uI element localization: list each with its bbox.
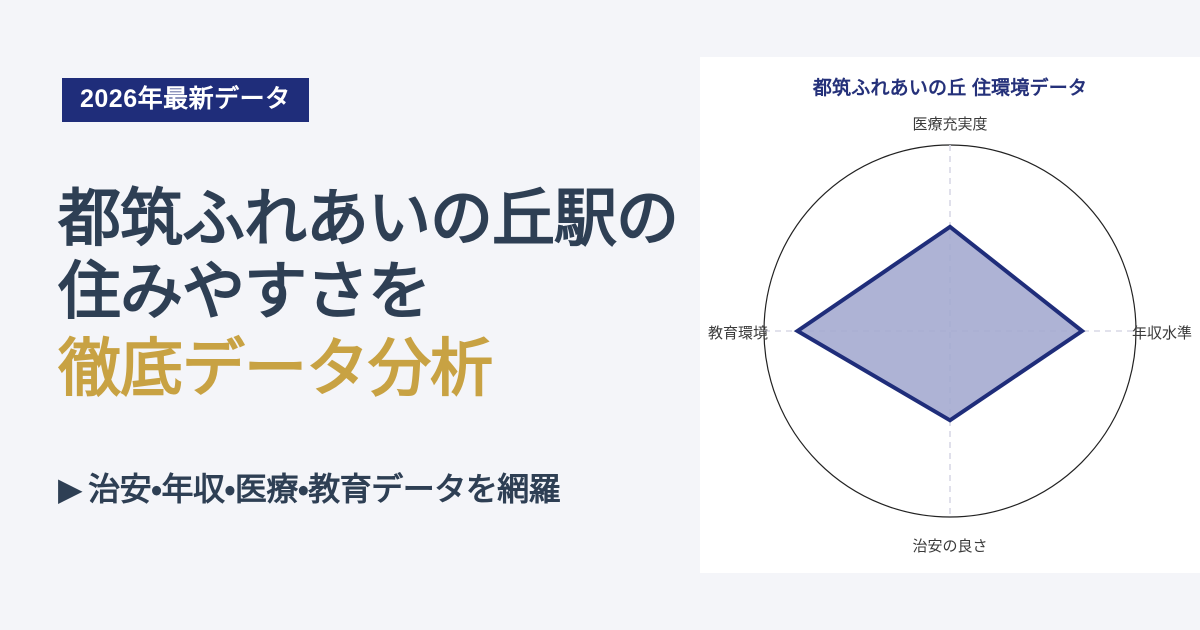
radar-data-polygon [798, 227, 1083, 420]
radar-chart [700, 57, 1200, 573]
headline-line-1: 都筑ふれあいの丘駅の [58, 183, 758, 256]
radar-label-left: 教育環境 [708, 322, 768, 343]
radar-label-top: 医療充実度 [700, 113, 1200, 134]
subtitle-text: 治安・年収・医療・教育データを網羅 [88, 471, 560, 507]
triangle-bullet-icon: ▶ [58, 470, 82, 508]
subtitle: ▶治安・年収・医療・教育データを網羅 [58, 464, 560, 510]
chart-panel: 都筑ふれあいの丘 住環境データ 医療充実度 年収水準 治安の良さ 教育環境 [700, 57, 1200, 573]
headline-line-2: 住みやすさを [58, 256, 758, 329]
date-badge: 2026年最新データ [62, 78, 309, 122]
ogp-card: 2026年最新データ 都筑ふれあいの丘駅の 住みやすさを 徹底データ分析 ▶治安… [0, 0, 1200, 630]
headline-line-3-accent: 徹底データ分析 [58, 333, 758, 406]
radar-label-bottom: 治安の良さ [700, 535, 1200, 556]
radar-label-right: 年収水準 [1132, 322, 1192, 343]
left-text-column: 2026年最新データ 都筑ふれあいの丘駅の 住みやすさを 徹底データ分析 ▶治安… [0, 0, 760, 630]
page-title: 都筑ふれあいの丘駅の 住みやすさを 徹底データ分析 [58, 183, 758, 406]
